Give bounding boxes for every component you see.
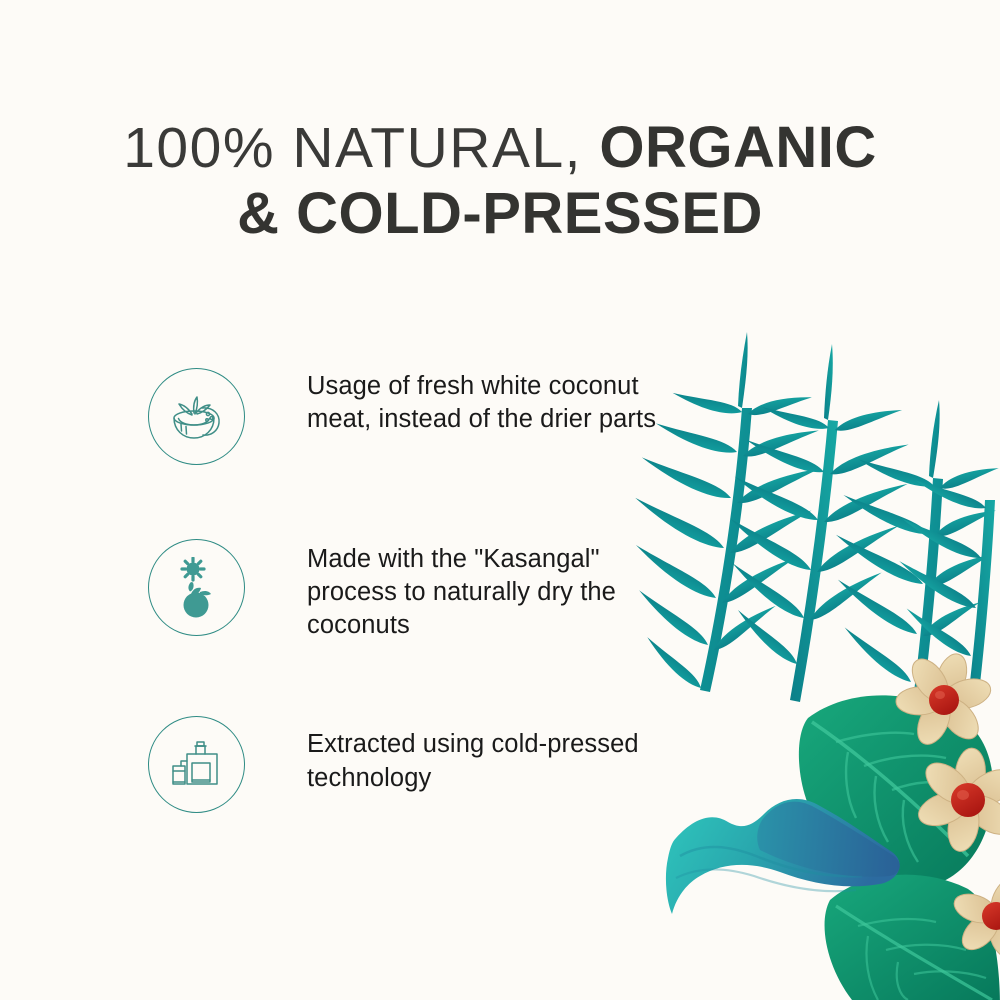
feature-text-cold-pressed: Extracted using cold-pressed technology [307,716,668,794]
feature-text-kasangal: Made with the "Kasangal" process to natu… [307,539,668,642]
feature-list: Usage of fresh white coconut meat, inste… [148,368,668,813]
broad-green-leaf-lower [825,875,1000,1000]
feature-item-kasangal: Made with the "Kasangal" process to natu… [148,539,668,642]
broad-green-leaf [799,695,993,888]
palm-frond-center [726,344,910,702]
heading-light-text: 100% NATURAL, [123,116,582,180]
cold-press-machine-icon [167,736,227,794]
heading-bold-text-organic: ORGANIC [599,115,876,180]
page-title: 100% NATURAL, ORGANIC & COLD-PRESSED [0,118,1000,245]
heading-line-2: & COLD-PRESSED [0,184,1000,244]
feature-text-coconut-meat: Usage of fresh white coconut meat, inste… [307,368,668,436]
feature-item-cold-pressed: Extracted using cold-pressed technology [148,716,668,813]
flower-cluster-lower [896,650,994,749]
feature-item-coconut-meat: Usage of fresh white coconut meat, inste… [148,368,668,465]
sun-drying-coconut-icon [169,557,225,619]
heading-line-1: 100% NATURAL, ORGANIC [0,118,1000,178]
wavy-blue-leaf [666,799,900,914]
coconut-bowl-icon [166,386,228,448]
flower-cluster-edge [950,871,1000,961]
cold-press-machine-icon-circle [148,716,245,813]
palm-frond-sprig [896,476,995,702]
flower-cluster-upper [914,747,1000,854]
sun-drying-coconut-icon-circle [148,539,245,636]
heading-bold-text-cold-pressed: & COLD-PRESSED [237,181,763,246]
palm-frond-right-edge [833,400,1000,762]
promotional-graphic: 100% NATURAL, ORGANIC & COLD-PRESSED [0,0,1000,1000]
coconut-bowl-icon-circle [148,368,245,465]
